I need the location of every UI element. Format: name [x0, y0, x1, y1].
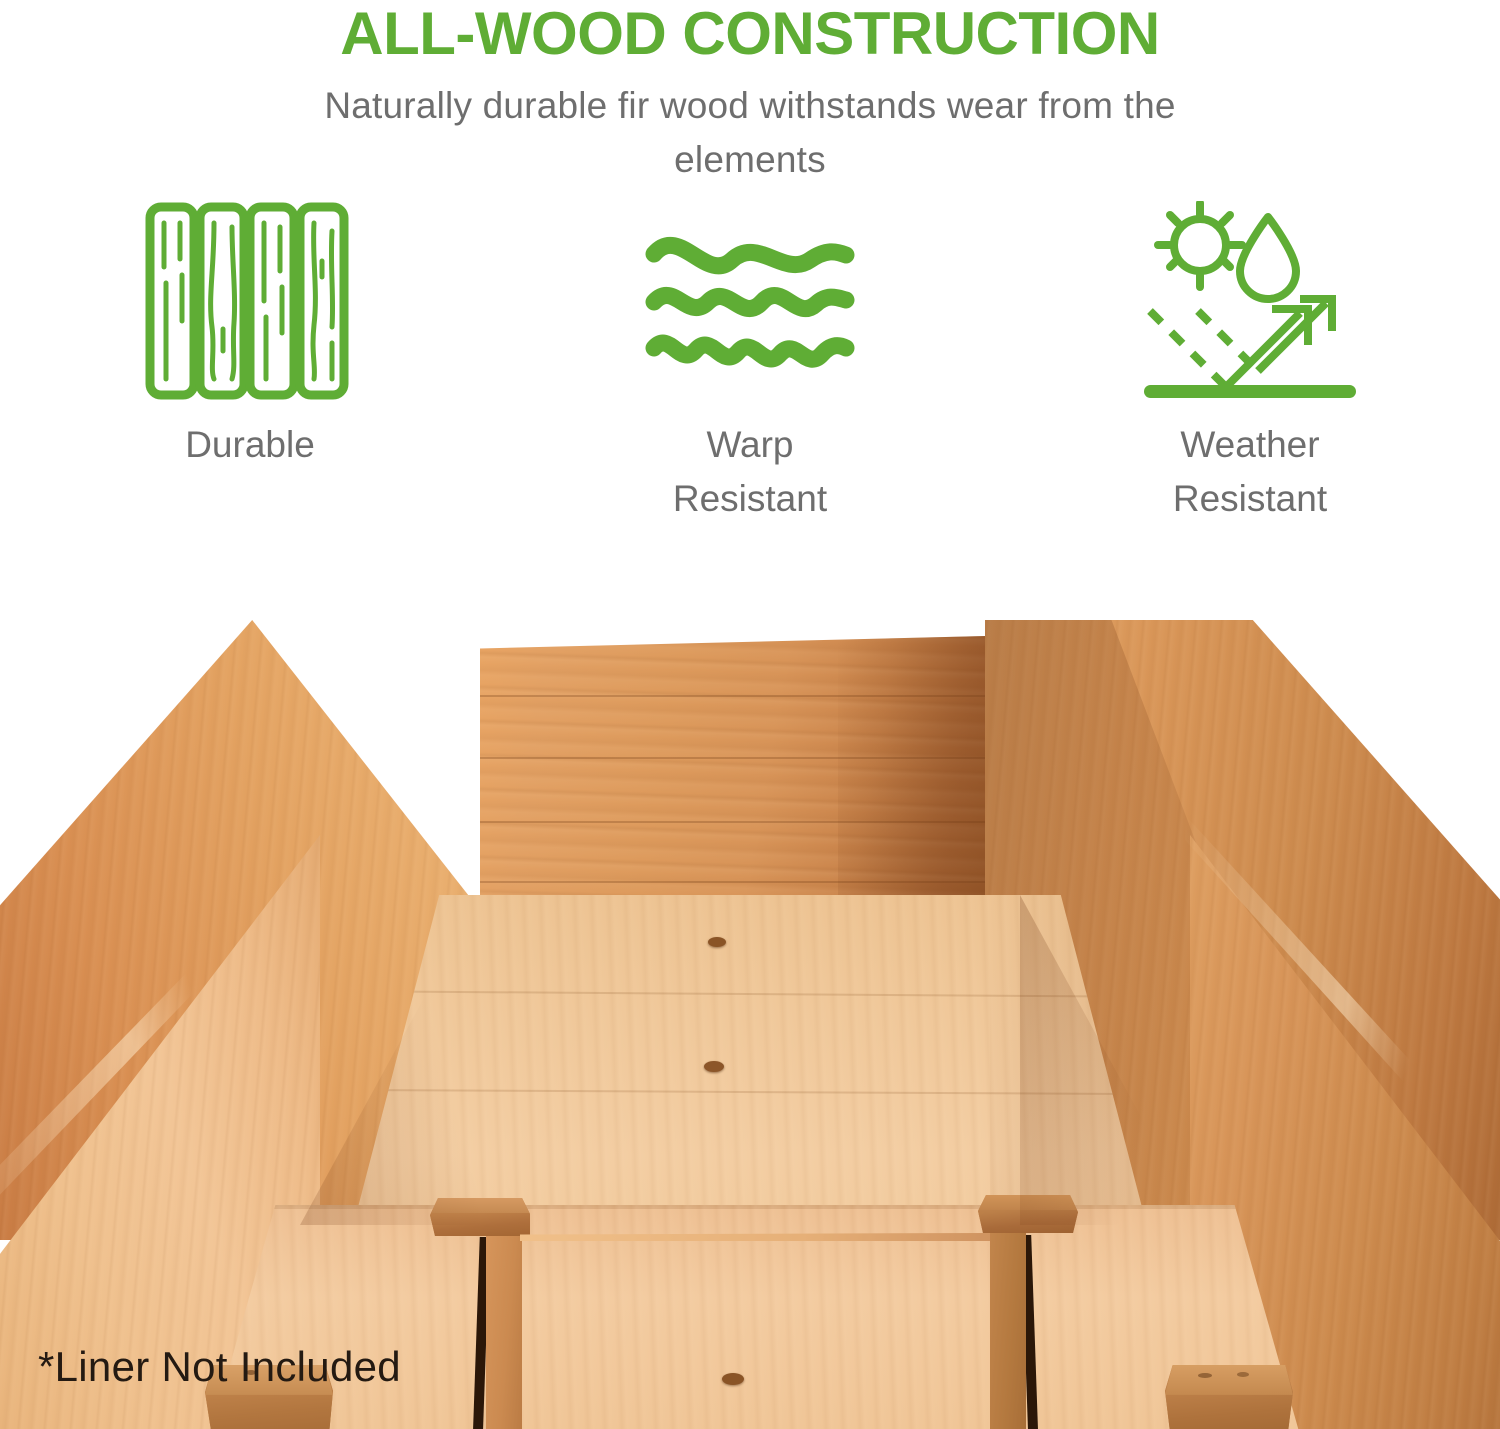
feature-label-warp-resistant: Warp Resistant [673, 418, 827, 525]
feature-warp-resistant: Warp Resistant [500, 196, 1000, 525]
wavy-lines-icon [644, 196, 856, 406]
feature-label-weather-resistant: Weather Resistant [1173, 418, 1327, 525]
marketing-infographic: ALL-WOOD CONSTRUCTION Naturally durable … [0, 0, 1500, 1429]
feature-durable: Durable [0, 196, 500, 525]
page-title: ALL-WOOD CONSTRUCTION [0, 0, 1500, 65]
header-block: ALL-WOOD CONSTRUCTION Naturally durable … [0, 0, 1500, 186]
feature-label-durable: Durable [185, 418, 315, 472]
post-cap-back-left [430, 1198, 530, 1236]
page-subtitle: Naturally durable fir wood withstands we… [300, 79, 1200, 186]
product-photo [0, 565, 1500, 1429]
back-wall-panel [480, 635, 1028, 905]
post-cap-front-right [1165, 1365, 1293, 1429]
post-body-back-left [486, 1233, 522, 1429]
sun-water-deflect-icon [1140, 196, 1360, 406]
liner-disclaimer: *Liner Not Included [38, 1343, 401, 1391]
feature-weather-resistant: Weather Resistant [1000, 196, 1500, 525]
post-cap-back-right [978, 1195, 1078, 1233]
feature-row: Durable Warp Resistant [0, 196, 1500, 525]
wood-planks-icon [144, 196, 356, 406]
post-body-back-right [990, 1231, 1026, 1429]
